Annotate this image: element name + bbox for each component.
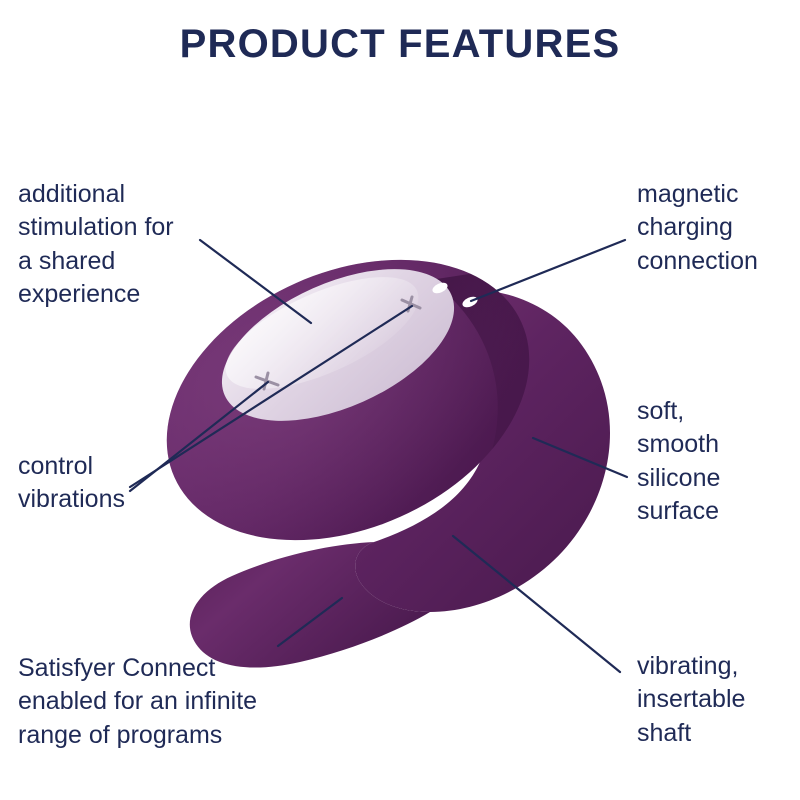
product-features-diagram: PRODUCT FEATURES	[0, 0, 800, 800]
label-soft-smooth-silicone: soft, smooth silicone surface	[637, 395, 720, 528]
leader-magnetic-charging	[471, 240, 625, 301]
label-magnetic-charging: magnetic charging connection	[637, 178, 758, 278]
label-control-vibrations: control vibrations	[18, 450, 125, 517]
label-vibrating-insertable-shaft: vibrating, insertable shaft	[637, 650, 745, 750]
label-satisfyer-connect: Satisfyer Connect enabled for an infinit…	[18, 652, 257, 752]
label-additional-stimulation: additional stimulation for a shared expe…	[18, 178, 174, 311]
